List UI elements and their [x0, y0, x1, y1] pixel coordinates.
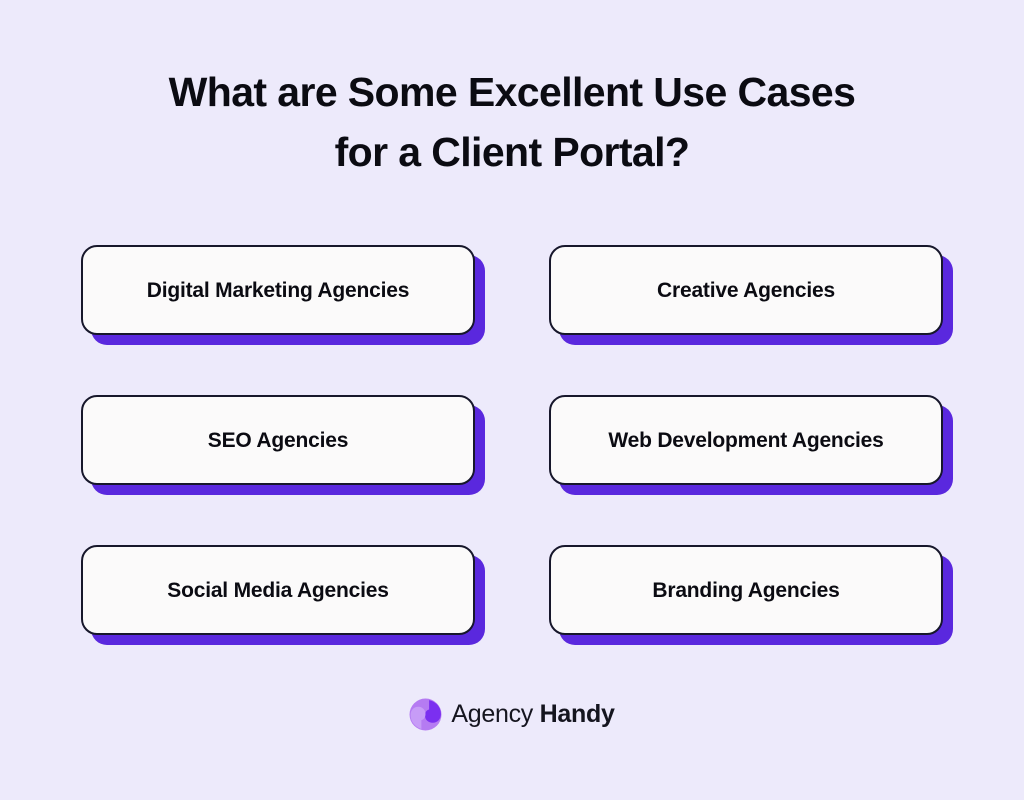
brand-logo-lockup: Agency Handy [0, 698, 1024, 731]
brand-logo-text: Agency Handy [451, 700, 614, 729]
use-case-card-digital-marketing-agencies[interactable]: Digital Marketing Agencies [81, 245, 475, 335]
card-label: SEO Agencies [208, 427, 348, 454]
use-case-card-creative-agencies[interactable]: Creative Agencies [549, 245, 943, 335]
use-case-card-web-development-agencies[interactable]: Web Development Agencies [549, 395, 943, 485]
infographic-canvas: What are Some Excellent Use Cases for a … [0, 0, 1024, 800]
agency-handy-circle-logo-icon [409, 698, 442, 731]
card-surface[interactable]: Creative Agencies [549, 245, 943, 335]
card-surface[interactable]: Digital Marketing Agencies [81, 245, 475, 335]
page-title: What are Some Excellent Use Cases for a … [0, 62, 1024, 182]
use-case-card-grid: Digital Marketing Agencies Creative Agen… [81, 245, 943, 635]
brand-name-light: Agency [451, 700, 533, 728]
card-surface[interactable]: Web Development Agencies [549, 395, 943, 485]
page-title-line-2: for a Client Portal? [0, 122, 1024, 182]
card-surface[interactable]: Branding Agencies [549, 545, 943, 635]
card-label: Social Media Agencies [167, 577, 388, 604]
use-case-card-branding-agencies[interactable]: Branding Agencies [549, 545, 943, 635]
use-case-card-social-media-agencies[interactable]: Social Media Agencies [81, 545, 475, 635]
card-surface[interactable]: SEO Agencies [81, 395, 475, 485]
card-label: Digital Marketing Agencies [147, 277, 409, 304]
page-title-line-1: What are Some Excellent Use Cases [0, 62, 1024, 122]
use-case-card-seo-agencies[interactable]: SEO Agencies [81, 395, 475, 485]
card-label: Branding Agencies [652, 577, 839, 604]
card-row-2: SEO Agencies Web Development Agencies [81, 395, 943, 485]
brand-name-bold: Handy [540, 700, 615, 728]
card-label: Creative Agencies [657, 277, 835, 304]
card-row-3: Social Media Agencies Branding Agencies [81, 545, 943, 635]
card-surface[interactable]: Social Media Agencies [81, 545, 475, 635]
card-row-1: Digital Marketing Agencies Creative Agen… [81, 245, 943, 335]
card-label: Web Development Agencies [608, 427, 883, 454]
